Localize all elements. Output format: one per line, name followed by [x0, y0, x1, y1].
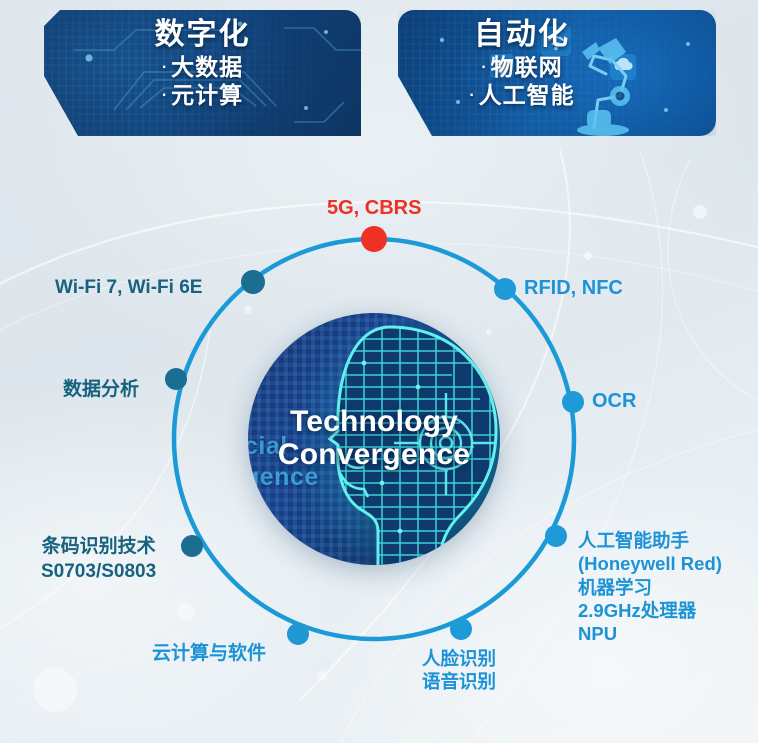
hub-circle: cial gence Technology Convergence [248, 313, 500, 565]
node-dot-5g-cbrs[interactable] [361, 226, 387, 252]
node-label-ai-assistant[interactable]: 人工智能助手 (Honeywell Red) 机器学习 2.9GHz处理器 NP… [578, 529, 722, 645]
node-dot-ocr[interactable] [562, 391, 584, 413]
node-label-barcode[interactable]: 条码识别技术 S0703/S0803 [41, 535, 156, 584]
node-label-face-voice[interactable]: 人脸识别 语音识别 [422, 647, 496, 694]
hub-title-line2: Convergence [248, 438, 500, 471]
node-label-rfid-nfc[interactable]: RFID, NFC [524, 277, 623, 301]
node-label-data-analysis[interactable]: 数据分析 [63, 379, 139, 401]
node-label-wifi[interactable]: Wi-Fi 7, Wi-Fi 6E [55, 277, 202, 299]
node-dot-rfid-nfc[interactable] [494, 278, 516, 300]
node-dot-data-analysis[interactable] [165, 368, 187, 390]
node-label-5g-cbrs[interactable]: 5G, CBRS [327, 197, 421, 221]
node-dot-cloud-software[interactable] [287, 623, 309, 645]
node-dot-barcode[interactable] [181, 535, 203, 557]
node-dot-wifi[interactable] [241, 270, 265, 294]
node-label-cloud-software[interactable]: 云计算与软件 [152, 643, 266, 665]
node-dot-ai-assistant[interactable] [545, 525, 567, 547]
infographic-canvas: 数字化 ·大数据 ·元计算 [0, 0, 758, 743]
node-label-ocr[interactable]: OCR [592, 390, 636, 414]
hub-title-line1: Technology [248, 405, 500, 438]
node-dot-face-voice[interactable] [450, 618, 472, 640]
hub-title: Technology Convergence [248, 405, 500, 471]
